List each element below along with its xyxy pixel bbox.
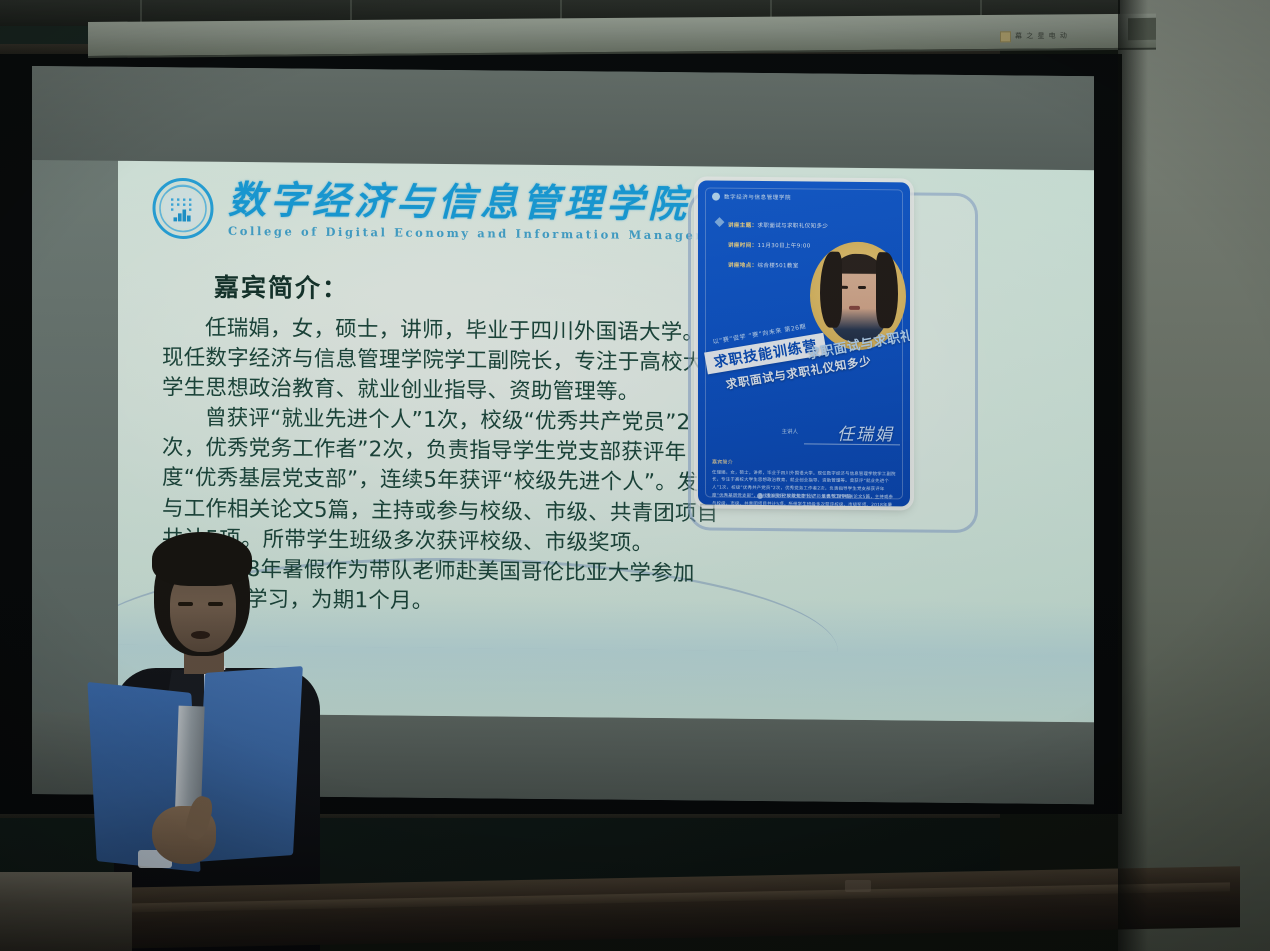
event-poster-image: 数字经济与信息管理学院 讲座主题：求职面试与求职礼仪知多少 讲座时间：11月30… (698, 180, 910, 506)
screen-unlit-top-band (32, 66, 1094, 170)
portrait-eye-left (840, 286, 848, 289)
portrait-hair-left (820, 252, 842, 328)
classroom-scene: 数字经济与信息管理学院 College of Digital Economy a… (0, 0, 1270, 951)
slide-paragraph-1: 任瑞娟，女，硕士，讲师，毕业于四川外国语大学。现任数字经济与信息管理学院学工副院… (162, 313, 722, 409)
poster-footer-dot-icon (757, 493, 763, 499)
poster-logo-dot-icon (712, 193, 720, 201)
portrait-eye-right (858, 286, 866, 289)
presenter-hair (152, 532, 252, 586)
presenter-eye-right (208, 602, 223, 606)
left-desk (0, 872, 132, 951)
poster-speaker-name: 任瑞娟 (837, 420, 894, 446)
slide-header: 数字经济与信息管理学院 College of Digital Economy a… (152, 177, 739, 245)
wall-shadow (1118, 0, 1148, 951)
poster-meta-value: 综合楼501教室 (758, 263, 799, 269)
presenter-eye-left (178, 602, 193, 606)
slide-title: 嘉宾简介： (214, 268, 349, 305)
poster-org-header: 数字经济与信息管理学院 (712, 193, 791, 202)
poster-footer-text: 重庆财经学院数字经济与信息管理学院 (767, 493, 852, 500)
poster-footer-bar: 重庆财经学院数字经济与信息管理学院 (698, 490, 910, 502)
poster-meta-label: 讲座时间： (728, 243, 758, 249)
chalk-tray-marker (845, 880, 871, 892)
portrait-mouth (849, 306, 860, 310)
college-emblem-icon (152, 177, 214, 240)
poster-meta-row: 讲座主题：求职面试与求职礼仪知多少 (728, 221, 828, 230)
poster-bio-heading: 嘉宾简介 (712, 459, 896, 470)
poster-meta-value: 求职面试与求职礼仪知多少 (758, 223, 829, 230)
poster-meta-label: 讲座地点： (728, 263, 758, 269)
college-name-cn: 数字经济与信息管理学院 (228, 180, 739, 225)
presenter-mouth (191, 631, 210, 639)
poster-meta-label: 讲座主题： (728, 223, 758, 229)
poster-org-text: 数字经济与信息管理学院 (724, 193, 791, 202)
college-name-en: College of Digital Economy and Informati… (228, 224, 739, 243)
poster-speaker-prefix: 主讲人 (781, 427, 798, 435)
roller-brand-text: 幕 之 星 电 动 (1015, 31, 1068, 41)
poster-meta-value: 11月30日上午9:00 (758, 243, 811, 250)
roller-brand-logo: 幕 之 星 电 动 (1000, 28, 1100, 45)
brand-mark-icon (1000, 31, 1011, 42)
